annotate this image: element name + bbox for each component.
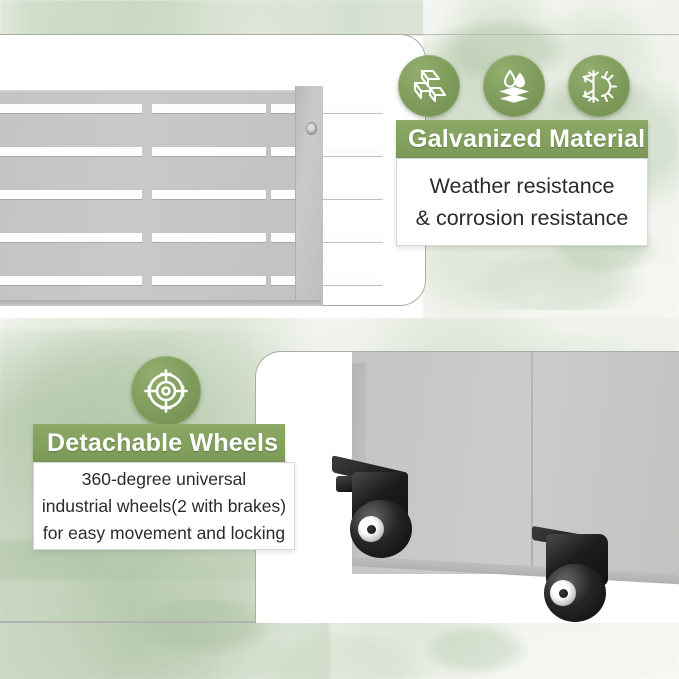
louver-slat: [152, 233, 266, 242]
feature-body-galvanized: Weather resistance & corrosion resistanc…: [396, 158, 648, 246]
louver-slat: [152, 276, 266, 285]
metal-ingots-icon: [398, 55, 460, 117]
louvered-cabinet-door: [0, 90, 321, 306]
feature-body-wheels: 360-degree universal industrial wheels(2…: [33, 462, 295, 550]
louver-slat: [271, 233, 383, 242]
caster-wheel-left: [330, 462, 434, 558]
caster-wheel-right: [528, 528, 638, 624]
feature-title-galvanized: Galvanized Material: [396, 120, 648, 158]
caster-target-icon: [131, 356, 201, 426]
feature-icon-row-galvanized: [398, 55, 630, 117]
feature-body-line: industrial wheels(2 with brakes): [42, 496, 286, 517]
feature-title-text: Detachable Wheels: [47, 429, 278, 458]
louver-slat: [0, 276, 142, 285]
feature-body-line: & corrosion resistance: [416, 206, 629, 231]
louver-slat: [0, 147, 142, 156]
cabinet-door-stile: [295, 86, 323, 306]
louver-slat: [0, 233, 142, 242]
louver-slat: [271, 190, 383, 199]
cabinet-lock-keyhole: [306, 122, 317, 135]
feature-title-text: Galvanized Material: [408, 125, 645, 154]
louver-slat: [152, 104, 266, 113]
infographic-canvas: Galvanized Material Weather resistance &…: [0, 0, 679, 679]
feature-icon-row-wheels: [131, 356, 201, 426]
feature-body-line: for easy movement and locking: [43, 523, 285, 544]
cabinet-bottom-edge: [0, 300, 321, 306]
louver-slat: [271, 276, 383, 285]
louver-slat: [271, 104, 383, 113]
louver-slat: [271, 147, 383, 156]
louver-slat: [0, 190, 142, 199]
sun-snowflake-icon: [568, 55, 630, 117]
louver-slat: [152, 147, 266, 156]
feature-body-line: 360-degree universal: [82, 469, 246, 490]
louver-slat: [152, 190, 266, 199]
feature-body-line: Weather resistance: [430, 174, 615, 199]
water-droplets-layers-icon: [483, 55, 545, 117]
louver-slat: [0, 104, 142, 113]
feature-title-wheels: Detachable Wheels: [33, 424, 285, 462]
